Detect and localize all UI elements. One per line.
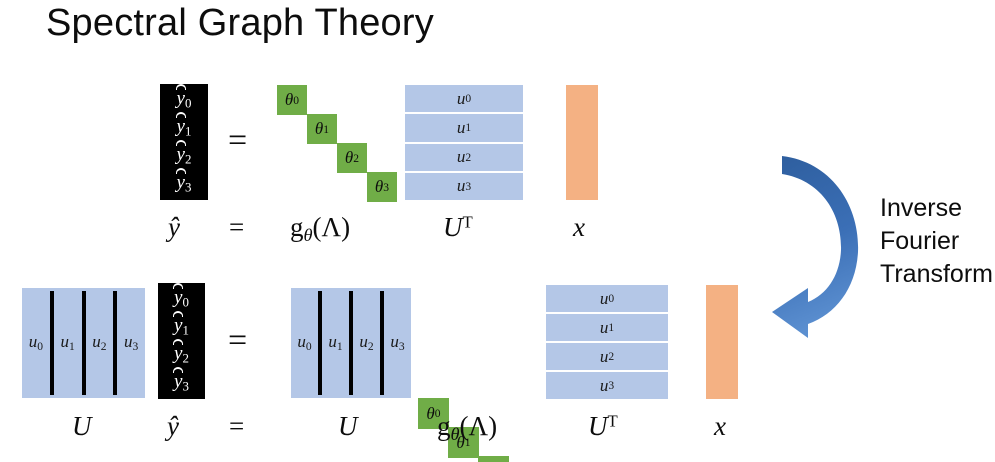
slide-canvas: Spectral Graph Theory y0 y1 y2 y3 = θ0 θ…: [0, 0, 995, 462]
theta-cell: θ2: [478, 456, 509, 462]
label-u-right: U: [338, 411, 358, 442]
ut-row: u3: [405, 173, 523, 200]
theta-cell: θ3: [367, 172, 397, 202]
label-ut-bottom: UT: [588, 411, 618, 442]
label-equals-bottom: =: [229, 411, 244, 442]
ut-row: u2: [546, 343, 668, 370]
yhat-cell: y2: [174, 344, 189, 366]
x-vector-top: [566, 85, 598, 200]
ut-row: u0: [546, 285, 668, 312]
caption-line: Transform: [880, 258, 993, 291]
label-yhat-bottom: ŷ: [167, 411, 179, 442]
theta-cell: θ0: [277, 85, 307, 115]
label-gtheta-bottom: gθ(Λ): [437, 411, 497, 445]
theta-cell: θ2: [337, 143, 367, 173]
yhat-vector-bottom: y0 y1 y2 y3: [158, 283, 205, 399]
label-x-bottom: x: [714, 411, 726, 442]
label-gtheta-top: gθ(Λ): [290, 212, 350, 246]
ut-matrix-bottom: u0 u1 u2 u3: [546, 285, 668, 399]
ut-row: u3: [546, 372, 668, 399]
u-col: u2: [353, 332, 380, 353]
u-col: u3: [384, 332, 411, 353]
ut-row: u1: [405, 114, 523, 141]
theta-diagonal-top: θ0 θ1 θ2 θ3: [277, 85, 397, 200]
yhat-cell: y2: [177, 145, 192, 167]
ut-matrix-top: u0 u1 u2 u3: [405, 85, 523, 200]
yhat-cell: y0: [174, 288, 189, 310]
caption-line: Fourier: [880, 225, 993, 258]
yhat-cell: y3: [174, 372, 189, 394]
yhat-cell: y1: [177, 117, 192, 139]
u-matrix-right: u0 u1 u2 u3: [291, 288, 411, 398]
page-title: Spectral Graph Theory: [46, 2, 434, 45]
u-matrix-left: u0 u1 u2 u3: [22, 288, 145, 398]
yhat-vector-top: y0 y1 y2 y3: [160, 84, 208, 200]
inverse-fourier-caption: Inverse Fourier Transform: [880, 192, 993, 291]
label-equals-top: =: [229, 212, 244, 243]
theta-cell: θ1: [307, 114, 337, 144]
caption-line: Inverse: [880, 192, 993, 225]
u-col: u0: [22, 332, 50, 353]
u-col: u1: [54, 332, 82, 353]
inverse-fourier-arrow: [770, 148, 880, 348]
label-x-top: x: [573, 212, 585, 243]
ut-row: u0: [405, 85, 523, 112]
label-u-left: U: [72, 411, 92, 442]
u-col: u3: [117, 332, 145, 353]
label-yhat-top: ŷ: [168, 212, 180, 243]
u-col: u1: [322, 332, 349, 353]
equals-sign-top: =: [228, 122, 247, 160]
u-col: u2: [86, 332, 114, 353]
yhat-cell: y3: [177, 173, 192, 195]
ut-row: u2: [405, 144, 523, 171]
yhat-cell: y1: [174, 316, 189, 338]
x-vector-bottom: [706, 285, 738, 399]
yhat-cell: y0: [177, 89, 192, 111]
ut-row: u1: [546, 314, 668, 341]
label-ut-top: UT: [443, 212, 473, 243]
u-col: u0: [291, 332, 318, 353]
equals-sign-bottom: =: [228, 322, 247, 360]
